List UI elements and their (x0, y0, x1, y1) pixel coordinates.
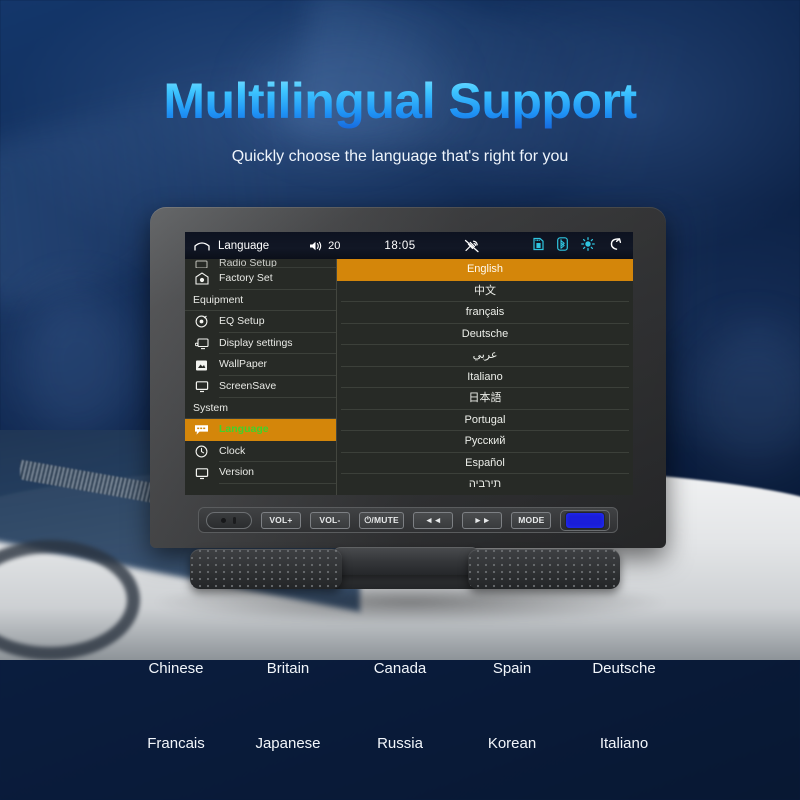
sidebar-header-system: System (185, 398, 336, 420)
sidebar-item-wallpaper[interactable]: WallPaper (185, 354, 336, 376)
sidebar-item-display-settings[interactable]: Display settings (185, 333, 336, 355)
language-label-francais: Francais (120, 735, 232, 752)
mode-button[interactable]: MODE (511, 512, 551, 529)
dashboard-mount-mat (190, 547, 620, 593)
page-subtitle: Quickly choose the language that's right… (0, 148, 800, 166)
factory-reset-icon (193, 271, 210, 286)
sidebar-item-label: Display settings (219, 333, 336, 355)
next-track-button[interactable]: ►► (462, 512, 502, 529)
language-option-german[interactable]: Deutsche (341, 324, 629, 346)
language-option-spanish[interactable]: Español (341, 453, 629, 475)
language-label-deutsche: Deutsche (568, 660, 680, 677)
previous-track-button[interactable]: ◄◄ (413, 512, 453, 529)
mat-bridge (332, 547, 480, 575)
language-label-row: Francais Japanese Russia Korean Italiano (120, 735, 680, 752)
settings-sidebar[interactable]: Radio Setup Factory Set Equipment (185, 259, 337, 495)
language-list[interactable]: English 中文 français Deutsche عربي Italia… (337, 259, 633, 495)
screen-title: Language (218, 240, 269, 252)
page-title: Multilingual Support (0, 72, 800, 130)
sidebar-item-label: Factory Set (219, 268, 336, 290)
language-option-japanese[interactable]: 日本語 (341, 388, 629, 410)
speech-bubble-icon (193, 422, 210, 437)
brightness-icon[interactable] (581, 237, 595, 254)
sidebar-item-label: Radio Setup (219, 259, 336, 268)
language-label-row: Chinese Britain Canada Spain Deutsche (120, 660, 680, 677)
language-label-canada: Canada (344, 660, 456, 677)
car-monitor-device: Language 20 18:05 (150, 207, 666, 548)
sidebar-item-label: Language (219, 419, 336, 441)
volume-up-button[interactable]: VOL+ (261, 512, 301, 529)
language-label-italiano: Italiano (568, 735, 680, 752)
language-label-japanese: Japanese (232, 735, 344, 752)
clock-time: 18:05 (384, 240, 415, 252)
status-led (233, 517, 236, 524)
sidebar-item-label: Version (219, 462, 336, 484)
sd-card-icon[interactable] (533, 237, 544, 254)
clock-icon (193, 444, 210, 459)
mat-pad-left (190, 549, 342, 589)
wallpaper-icon (193, 358, 210, 373)
power-mute-button[interactable]: ⏻/MUTE (359, 512, 404, 529)
monitor-icon (193, 466, 210, 481)
radio-icon (193, 259, 210, 268)
language-option-arabic[interactable]: عربي (341, 345, 629, 367)
volume-indicator[interactable]: 20 (309, 240, 340, 252)
language-option-italian[interactable]: Italiano (341, 367, 629, 389)
language-option-hebrew[interactable]: תירביה (341, 474, 629, 495)
language-option-french[interactable]: français (341, 302, 629, 324)
language-option-chinese[interactable]: 中文 (341, 281, 629, 303)
sidebar-item-label: ScreenSave (219, 376, 336, 398)
display-settings-icon (193, 336, 210, 351)
eq-dial-icon (193, 314, 210, 329)
gps-off-icon[interactable] (464, 239, 480, 253)
power-indicator-housing (560, 510, 610, 531)
sidebar-item-version[interactable]: Version (185, 462, 336, 484)
screensaver-icon (193, 379, 210, 394)
back-arrow-icon[interactable] (608, 237, 624, 255)
home-icon[interactable] (194, 240, 210, 252)
hardware-button-bar: VOL+ VOL- ⏻/MUTE ◄◄ ►► MODE (198, 507, 618, 533)
background-blob (18, 290, 138, 440)
sidebar-item-eq-setup[interactable]: EQ Setup (185, 311, 336, 333)
language-option-russian[interactable]: Русский (341, 431, 629, 453)
device-screen: Language 20 18:05 (185, 232, 633, 495)
sidebar-header-equipment: Equipment (185, 290, 336, 312)
sidebar-item-factory-set[interactable]: Factory Set (185, 268, 336, 290)
ir-sensor-window (206, 512, 252, 529)
volume-down-button[interactable]: VOL- (310, 512, 350, 529)
sidebar-item-label: Clock (219, 441, 336, 463)
bluetooth-icon[interactable] (557, 237, 568, 254)
status-bar: Language 20 18:05 (185, 232, 633, 259)
speaker-icon (309, 240, 323, 252)
sidebar-item-label: WallPaper (219, 354, 336, 376)
sidebar-item-screensave[interactable]: ScreenSave (185, 376, 336, 398)
language-label-russia: Russia (344, 735, 456, 752)
language-label-korean: Korean (456, 735, 568, 752)
language-label-britain: Britain (232, 660, 344, 677)
mat-pad-right (468, 549, 620, 589)
volume-value: 20 (328, 240, 340, 252)
sidebar-item-label: EQ Setup (219, 311, 336, 333)
sidebar-item-clock[interactable]: Clock (185, 441, 336, 463)
language-option-portugal[interactable]: Portugal (341, 410, 629, 432)
page-root: Multilingual Support Quickly choose the … (0, 0, 800, 800)
sidebar-item-language[interactable]: Language (185, 419, 336, 441)
language-label-spain: Spain (456, 660, 568, 677)
ir-receiver-dot (221, 518, 226, 523)
power-indicator-light (565, 512, 605, 529)
sidebar-item-partial[interactable]: Radio Setup (185, 259, 336, 268)
language-label-chinese: Chinese (120, 660, 232, 677)
language-label-grid: Chinese Britain Canada Spain Deutsche Fr… (120, 660, 680, 752)
language-option-english[interactable]: English (337, 259, 633, 281)
settings-body: Radio Setup Factory Set Equipment (185, 259, 633, 495)
